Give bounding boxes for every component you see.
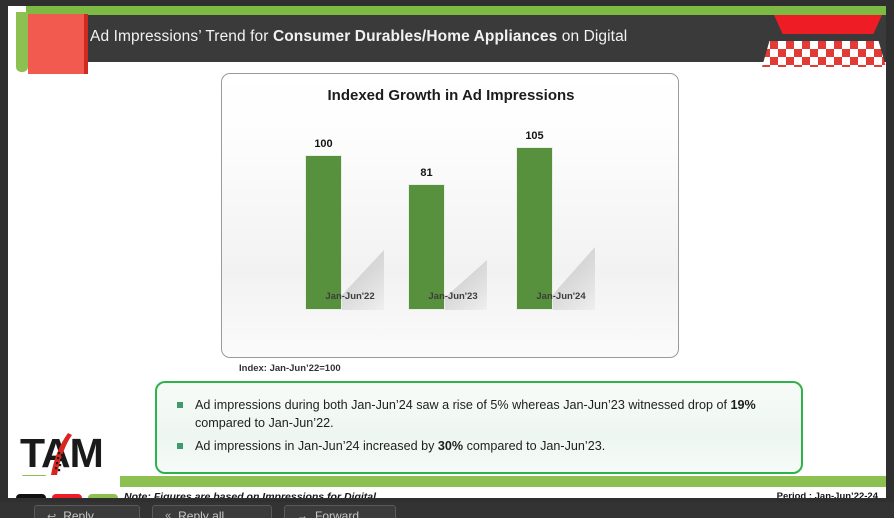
footer-period: Period : Jan-Jun’22-24 — [777, 491, 878, 498]
chart-title: Indexed Growth in Ad Impressions — [222, 87, 679, 104]
checkered-flag-icon — [762, 41, 886, 67]
mail-action-toolbar: ↩ Reply « Reply all → Forward — [0, 502, 894, 518]
bar-group: 100 Jan-Jun'22 — [290, 122, 410, 310]
chart-index-note: Index: Jan-Jun’22=100 — [239, 363, 341, 374]
page-title: Ad Impressions’ Trend for Consumer Durab… — [90, 28, 790, 46]
bar-group: 105 Jan-Jun'24 — [501, 122, 621, 310]
header-green-strip — [26, 6, 886, 15]
footer-note: Note: Figures are based on Impressions f… — [124, 491, 376, 498]
bar-column[interactable] — [305, 155, 342, 310]
slide-header: Ad Impressions’ Trend for Consumer Durab… — [8, 6, 886, 62]
reply-arrow-icon: ↩ — [47, 510, 56, 518]
insight-text-part2: compared to Jan-Jun’23. — [463, 439, 605, 453]
bar-category-label: Jan-Jun'24 — [501, 291, 621, 302]
bar-category-label: Jan-Jun'22 — [290, 291, 410, 302]
footer-green-strip — [8, 476, 886, 487]
insight-text-part1: Ad impressions during both Jan-Jun’24 sa… — [195, 398, 731, 412]
insight-text: Ad impressions during both Jan-Jun’24 sa… — [195, 396, 785, 432]
flag-red-banner — [774, 15, 882, 34]
bar-category-label: Jan-Jun'23 — [393, 291, 513, 302]
insight-text: Ad impressions in Jan-Jun’24 increased b… — [195, 437, 605, 455]
reply-all-arrow-icon: « — [165, 510, 171, 518]
list-item: Ad impressions in Jan-Jun’24 increased b… — [171, 437, 785, 455]
forward-arrow-icon: → — [297, 510, 308, 518]
slide-canvas: Ad Impressions’ Trend for Consumer Durab… — [8, 6, 886, 498]
reply-button[interactable]: ↩ Reply — [34, 505, 140, 518]
chart-panel: Indexed Growth in Ad Impressions 100 Jan… — [221, 73, 679, 358]
insights-box: Ad impressions during both Jan-Jun’24 sa… — [155, 381, 803, 474]
bar-group: 81 Jan-Jun'23 — [393, 122, 513, 310]
reply-button-label: Reply — [63, 509, 94, 518]
header-flag-decoration — [762, 15, 886, 67]
bar-column[interactable] — [516, 147, 553, 310]
insight-highlight: 30% — [438, 439, 463, 453]
header-green-tab — [16, 12, 28, 72]
forward-button[interactable]: → Forward — [284, 505, 396, 518]
slide-footer: Note: Figures are based on Impressions f… — [8, 487, 886, 498]
insight-text-part1: Ad impressions in Jan-Jun’24 increased b… — [195, 439, 438, 453]
chart-plot-area: 100 Jan-Jun'22 81 Jan-Jun'23 105 — [222, 122, 679, 340]
bullet-square-icon — [177, 443, 183, 449]
reply-all-button-label: Reply all — [178, 509, 224, 518]
bullet-square-icon — [177, 402, 183, 408]
page-title-category: Consumer Durables/Home Appliances — [273, 28, 557, 45]
bar-value-label: 81 — [393, 167, 460, 179]
insight-text-part2: compared to Jan-Jun’22. — [195, 416, 334, 430]
footer-pill-green — [88, 494, 118, 498]
tam-swoosh-icon — [48, 432, 74, 476]
reply-all-button[interactable]: « Reply all — [152, 505, 272, 518]
page-title-prefix: Ad Impressions’ Trend for — [90, 28, 273, 45]
bar-value-label: 105 — [501, 130, 568, 142]
list-item: Ad impressions during both Jan-Jun’24 sa… — [171, 396, 785, 432]
page-title-suffix: on Digital — [557, 28, 627, 45]
footer-pill-black — [16, 494, 46, 498]
footer-pill-red — [52, 494, 82, 498]
application-root: Ad Impressions’ Trend for Consumer Durab… — [0, 0, 894, 518]
forward-button-label: Forward — [315, 509, 359, 518]
bar-value-label: 100 — [290, 138, 357, 150]
insight-highlight: 19% — [731, 398, 756, 412]
header-red-block — [28, 14, 84, 74]
